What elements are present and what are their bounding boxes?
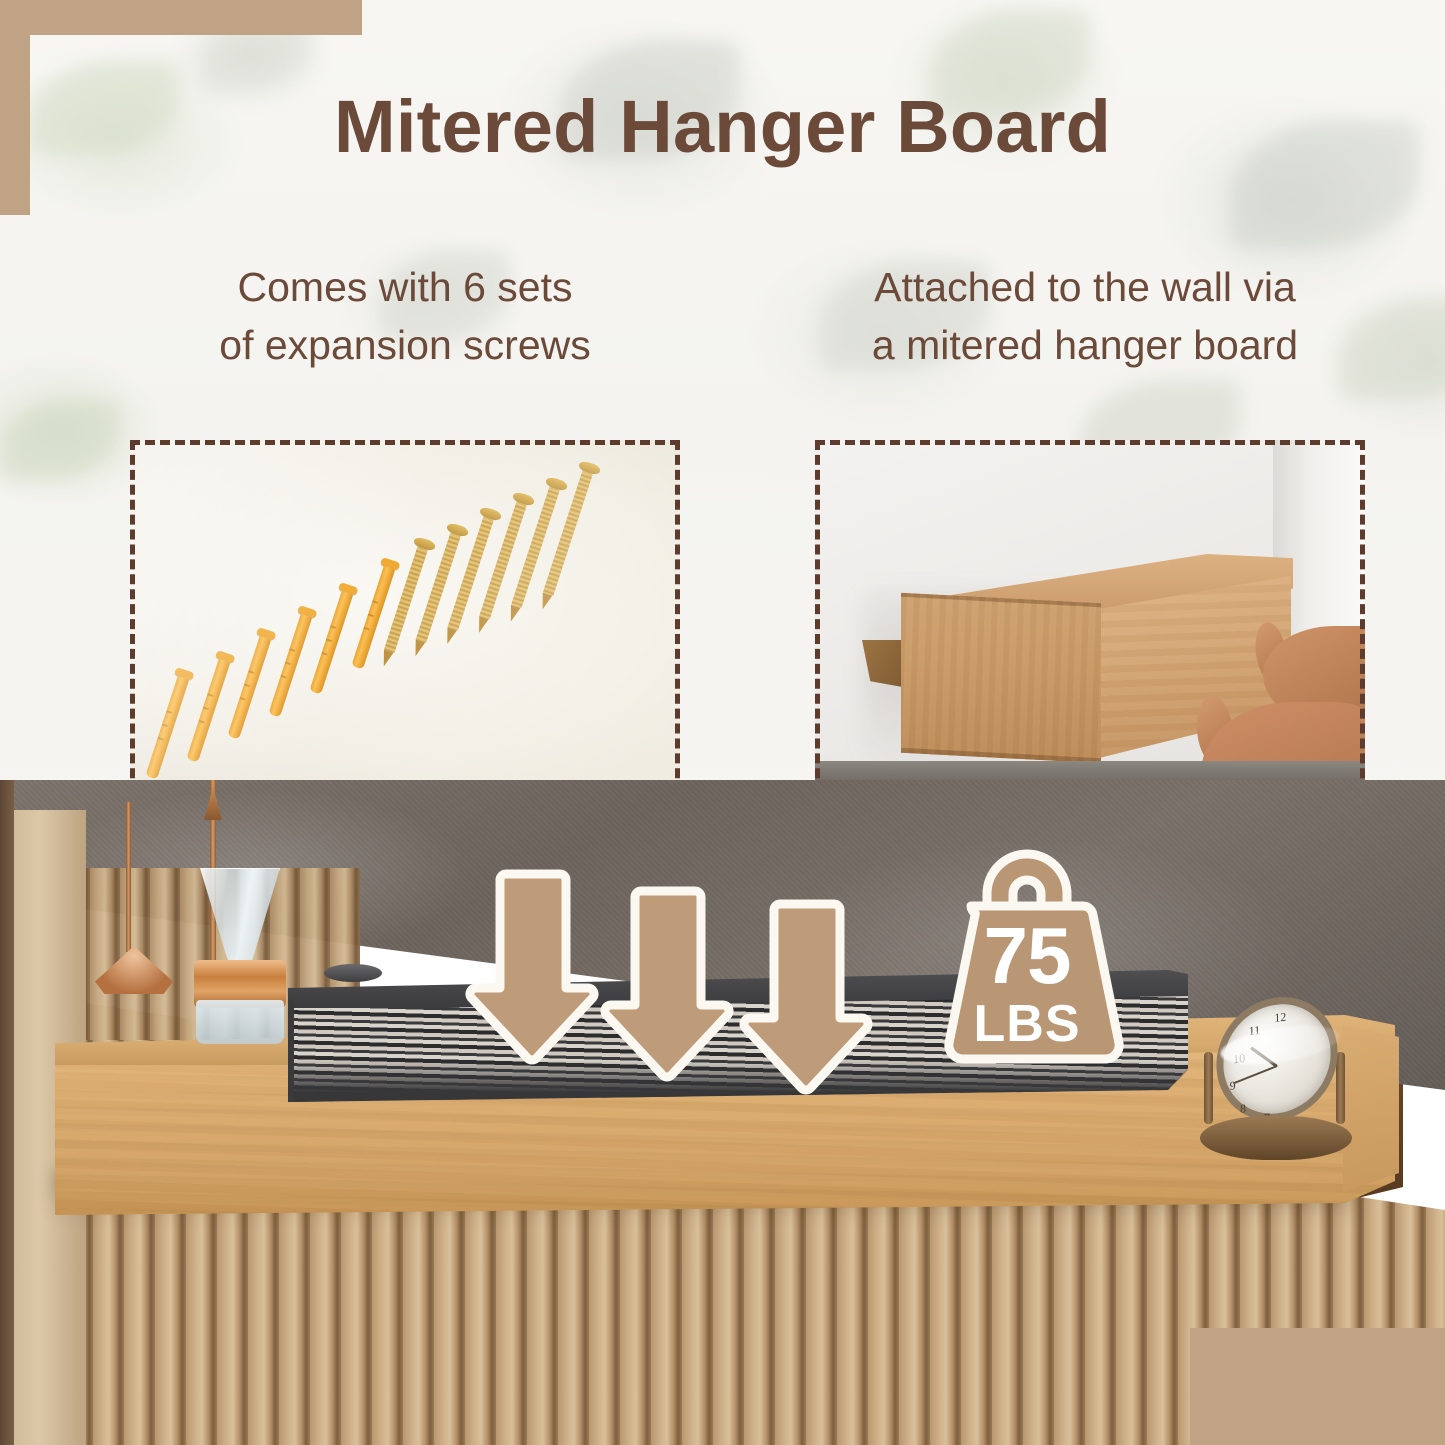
down-arrow-3 [742, 898, 872, 1088]
feature-caption-screws-line2: of expansion screws [120, 316, 690, 374]
down-arrow-2 [603, 885, 733, 1075]
down-arrow-1 [468, 868, 598, 1058]
glass-vase [186, 868, 294, 1038]
feature-caption-hanger-line2: a mitered hanger board [760, 316, 1410, 374]
weight-value: 75 [905, 910, 1149, 1002]
feature-caption-screws: Comes with 6 sets of expansion screws [120, 258, 690, 374]
feature-caption-hanger: Attached to the wall via a mitered hange… [760, 258, 1410, 374]
photo-wall-installation [815, 440, 1365, 785]
weight-capacity-badge: 75 LBS [905, 846, 1149, 1068]
weight-unit: LBS [905, 994, 1149, 1054]
corner-accent-top [0, 0, 362, 35]
desk-clock: 12 11 10 9 8 7 [1196, 998, 1356, 1168]
corner-accent-bottom-right [1190, 1328, 1445, 1445]
page-title: Mitered Hanger Board [0, 84, 1445, 169]
feature-caption-screws-line1: Comes with 6 sets [120, 258, 690, 316]
feature-caption-hanger-line1: Attached to the wall via [760, 258, 1410, 316]
photo-expansion-screws [130, 440, 680, 785]
infographic-canvas: Mitered Hanger Board Comes with 6 sets o… [0, 0, 1445, 1445]
